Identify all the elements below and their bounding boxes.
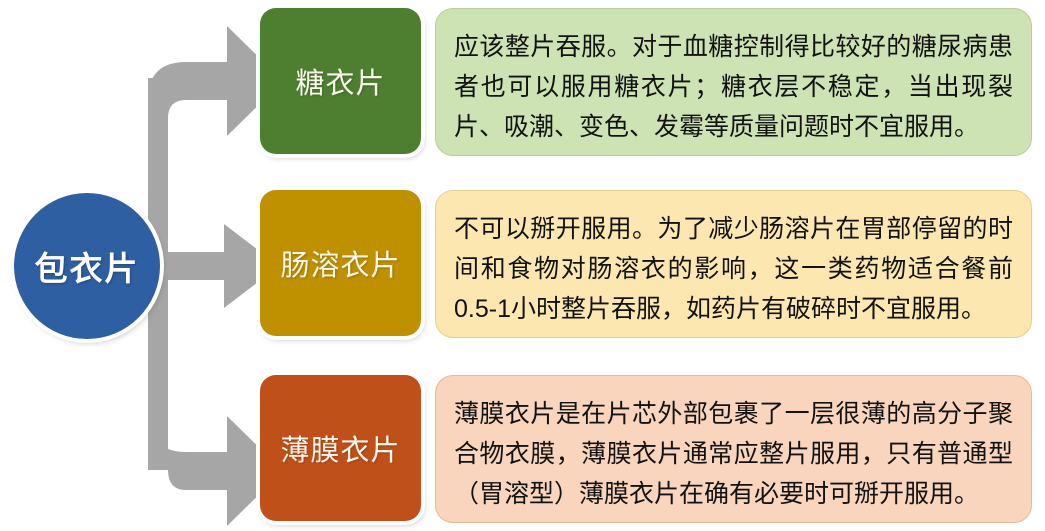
diagram-canvas: 包衣片 糖衣片 肠溶衣片 薄膜衣片 应该整片吞服。对于血糖控制得比较好的糖尿病患… (0, 0, 1045, 531)
description-panel-enteric-coated: 不可以掰开服用。为了减少肠溶片在胃部停留的时间和食物对肠溶衣的影响，这一类药物适… (435, 190, 1032, 338)
description-text: 应该整片吞服。对于血糖控制得比较好的糖尿病患者也可以服用糖衣片；糖衣层不稳定，当… (454, 27, 1013, 147)
category-box-label: 肠溶衣片 (280, 242, 400, 284)
description-panel-film-coated: 薄膜衣片是在片芯外部包裹了一层很薄的高分子聚合物衣膜，薄膜衣片通常应整片服用，只… (435, 375, 1032, 523)
category-box-label: 糖衣片 (295, 60, 385, 102)
description-text: 不可以掰开服用。为了减少肠溶片在胃部停留的时间和食物对肠溶衣的影响，这一类药物适… (454, 209, 1013, 329)
root-node-coated-tablet: 包衣片 (14, 193, 160, 339)
description-panel-sugar-coated: 应该整片吞服。对于血糖控制得比较好的糖尿病患者也可以服用糖衣片；糖衣层不稳定，当… (435, 8, 1032, 156)
category-box-sugar-coated: 糖衣片 (260, 8, 421, 154)
category-box-label: 薄膜衣片 (280, 427, 400, 469)
category-box-enteric-coated: 肠溶衣片 (260, 190, 421, 336)
category-box-film-coated: 薄膜衣片 (260, 375, 421, 521)
description-text: 薄膜衣片是在片芯外部包裹了一层很薄的高分子聚合物衣膜，薄膜衣片通常应整片服用，只… (454, 394, 1013, 514)
root-node-label: 包衣片 (35, 242, 140, 290)
